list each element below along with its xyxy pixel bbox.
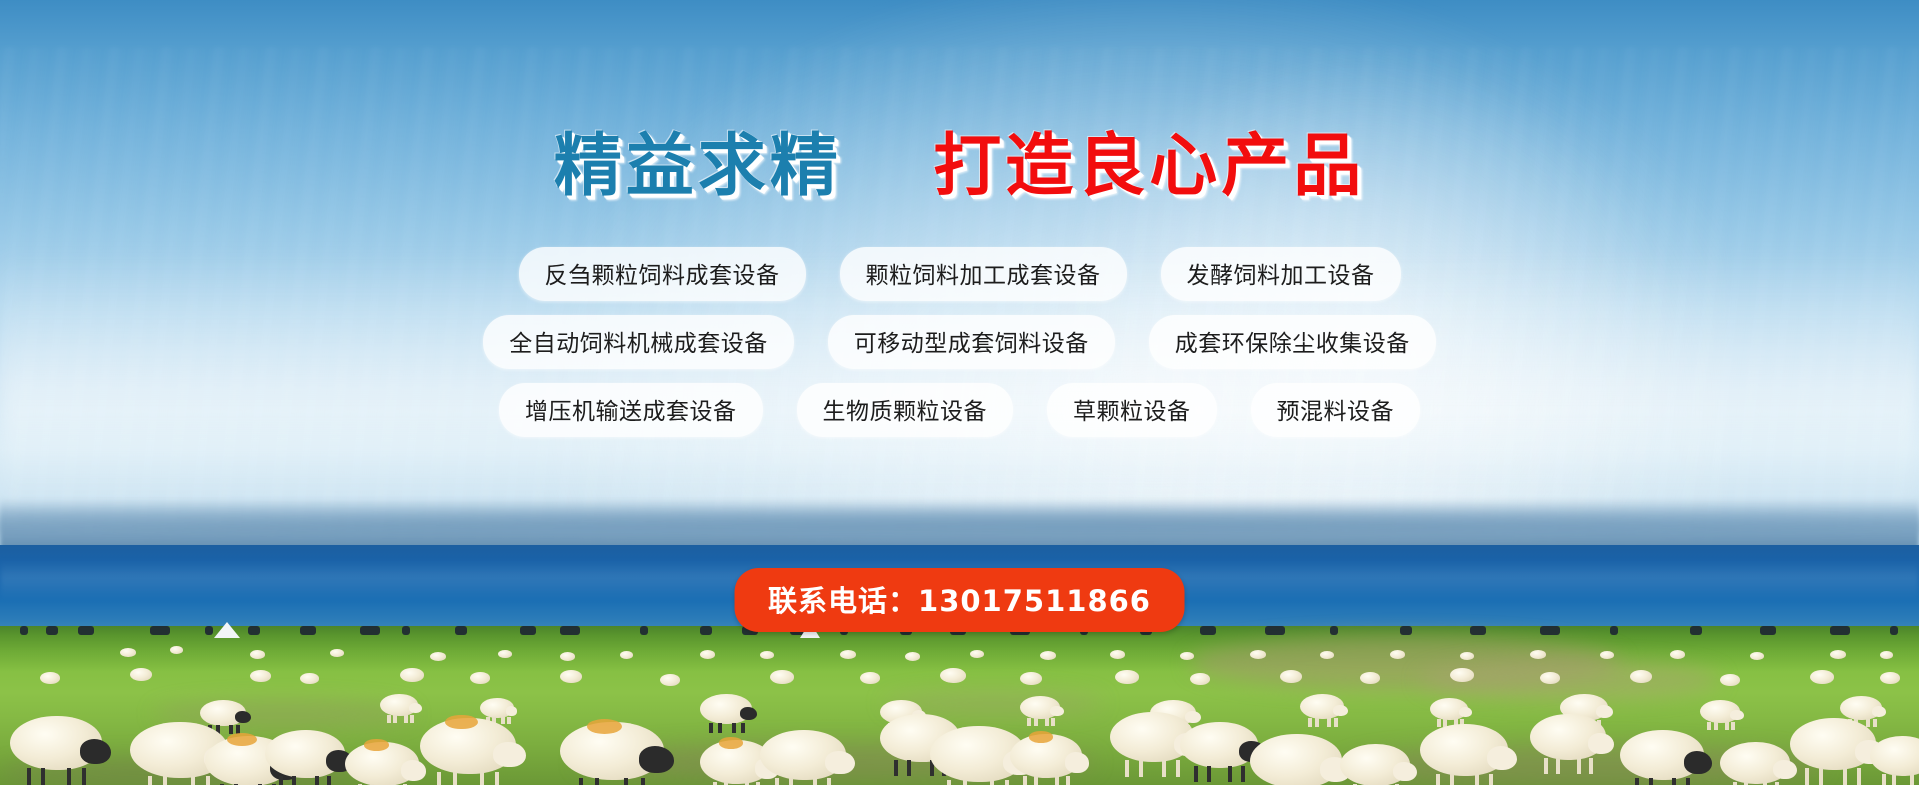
headline-red-text: 打造良心产品 — [933, 127, 1365, 206]
banner-content: 精益求精 打造良心产品 反刍颗粒饲料成套设备颗粒饲料加工成套设备发酵饲料加工设备… — [0, 0, 1919, 785]
product-pill-row: 反刍颗粒饲料成套设备颗粒饲料加工成套设备发酵饲料加工设备 — [0, 247, 1919, 301]
product-pill[interactable]: 成套环保除尘收集设备 — [1149, 315, 1436, 369]
promo-banner: 精益求精 打造良心产品 反刍颗粒饲料成套设备颗粒饲料加工成套设备发酵饲料加工设备… — [0, 0, 1919, 785]
product-pill[interactable]: 可移动型成套饲料设备 — [828, 315, 1115, 369]
product-pill[interactable]: 草颗粒设备 — [1047, 383, 1217, 437]
product-pill-rows: 反刍颗粒饲料成套设备颗粒饲料加工成套设备发酵饲料加工设备全自动饲料机械成套设备可… — [0, 247, 1919, 451]
product-pill-row: 全自动饲料机械成套设备可移动型成套饲料设备成套环保除尘收集设备 — [0, 315, 1919, 369]
headline-blue-text: 精益求精 — [554, 127, 842, 206]
product-pill[interactable]: 全自动饲料机械成套设备 — [483, 315, 794, 369]
contact-phone-badge[interactable]: 联系电话：13017511866 — [734, 568, 1185, 632]
headline: 精益求精 打造良心产品 — [0, 133, 1919, 201]
product-pill[interactable]: 预混料设备 — [1251, 383, 1421, 437]
product-pill[interactable]: 增压机输送成套设备 — [499, 383, 763, 437]
product-pill[interactable]: 颗粒饲料加工成套设备 — [840, 247, 1127, 301]
product-pill-row: 增压机输送成套设备生物质颗粒设备草颗粒设备预混料设备 — [0, 383, 1919, 437]
product-pill[interactable]: 反刍颗粒饲料成套设备 — [519, 247, 806, 301]
product-pill[interactable]: 发酵饲料加工设备 — [1161, 247, 1401, 301]
product-pill[interactable]: 生物质颗粒设备 — [797, 383, 1014, 437]
